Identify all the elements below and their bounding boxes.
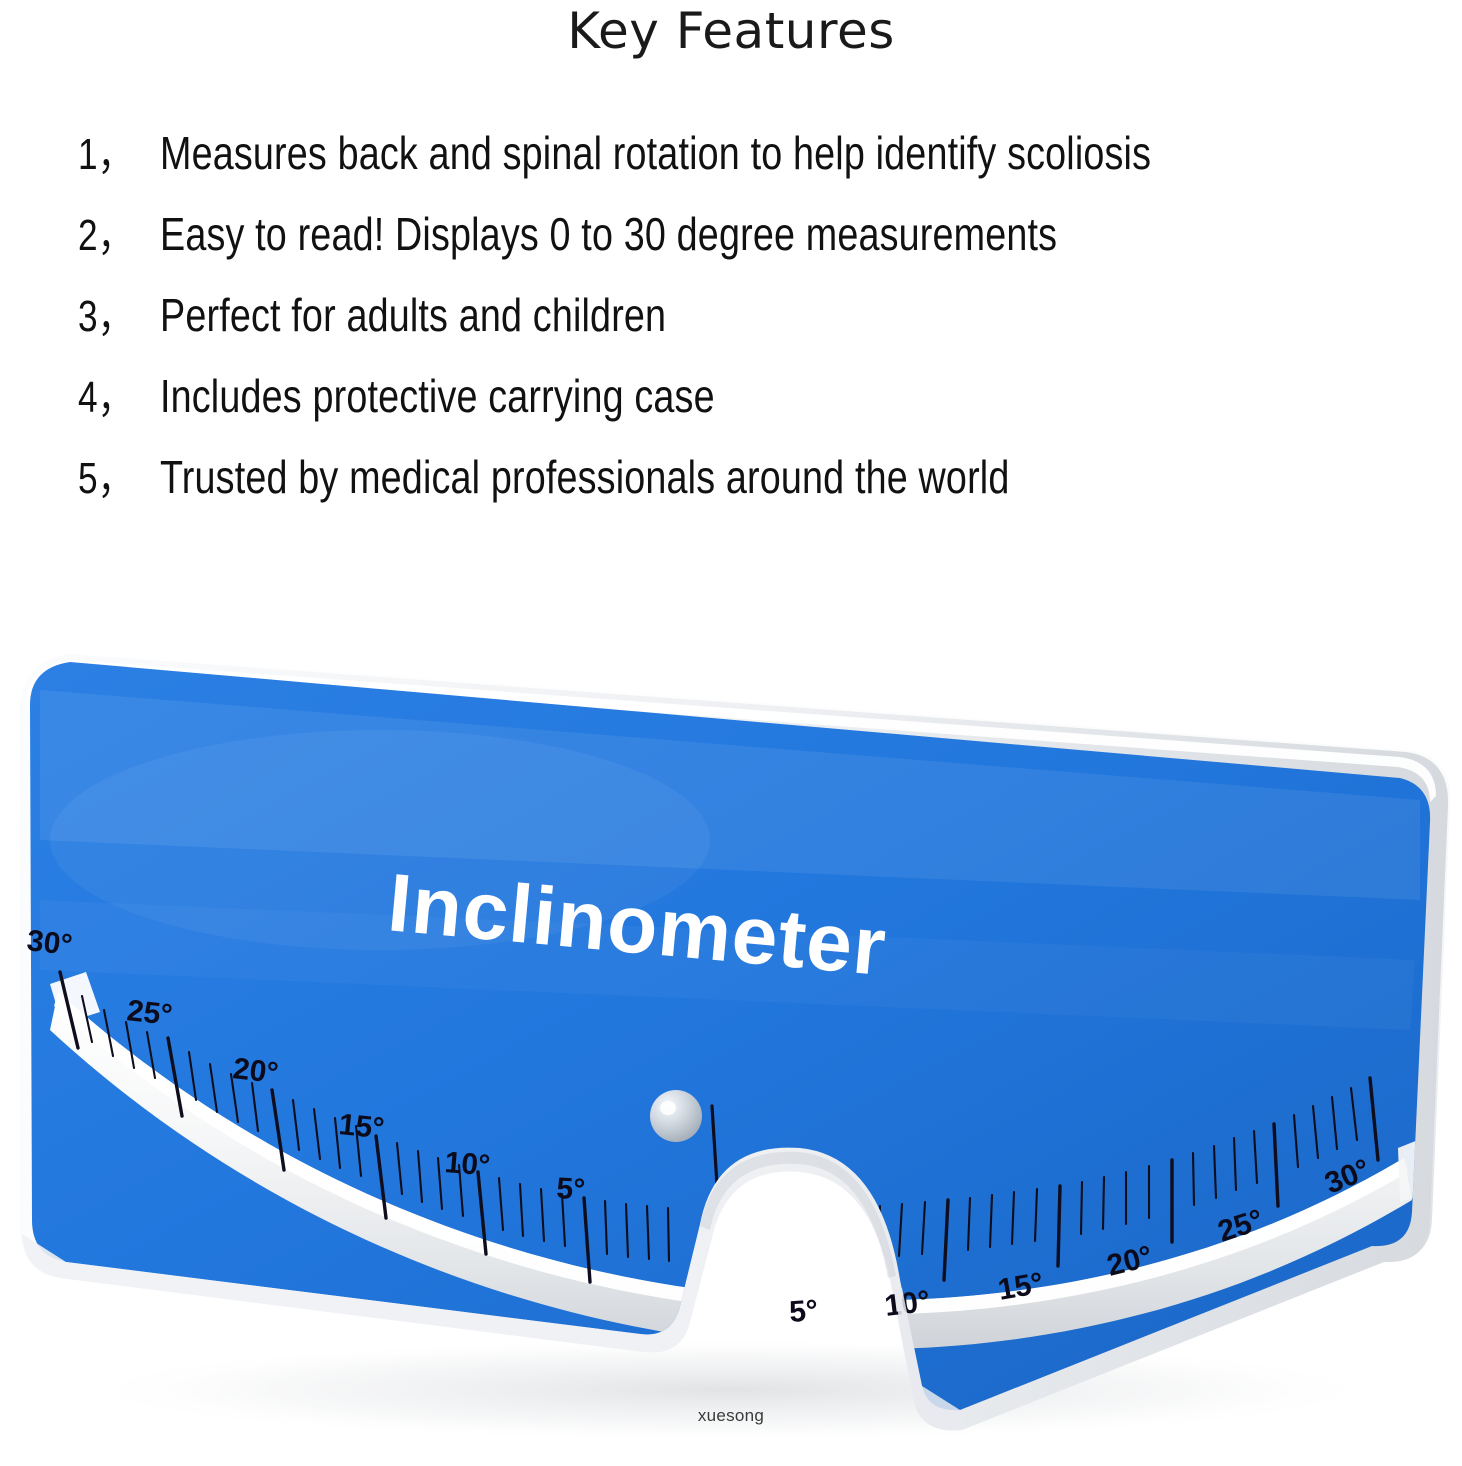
pivot-bubble — [650, 1090, 702, 1142]
scale-label-left-10: 10° — [443, 1146, 491, 1182]
page-title: Key Features — [0, 2, 1462, 60]
product-shadow — [70, 1338, 1390, 1442]
list-item-index: 5， — [78, 442, 144, 506]
scale-label-left-30: 30° — [25, 924, 74, 962]
scale-label-left-15: 15° — [337, 1108, 385, 1145]
list-item-index: 4， — [78, 361, 144, 425]
list-item: 3， Perfect for adults and children — [78, 280, 1418, 361]
scale-label-left-25: 25° — [125, 994, 174, 1032]
scale-label-right-5: 5° — [788, 1294, 819, 1329]
key-features-list: 1， Measures back and spinal rotation to … — [78, 118, 1418, 523]
list-item: 1， Measures back and spinal rotation to … — [78, 118, 1418, 199]
list-item-index: 2， — [78, 199, 144, 263]
scale-label-left-20: 20° — [231, 1052, 280, 1090]
watermark-text: xuesong — [0, 1406, 1462, 1426]
list-item: 5， Trusted by medical professionals arou… — [78, 442, 1418, 523]
list-item-label: Easy to read! Displays 0 to 30 degree me… — [160, 207, 1057, 261]
list-item-index: 1， — [78, 118, 144, 182]
list-item-label: Perfect for adults and children — [160, 288, 666, 342]
list-item-index: 3， — [78, 280, 144, 344]
scale-label-left-5: 5° — [556, 1172, 586, 1206]
list-item-label: Measures back and spinal rotation to hel… — [160, 126, 1151, 180]
list-item-label: Includes protective carrying case — [160, 369, 715, 423]
product-image-inclinometer: 30° 25° 20° 15° 10° 5° — [0, 600, 1462, 1466]
list-item-label: Trusted by medical professionals around … — [160, 450, 1009, 504]
list-item: 4， Includes protective carrying case — [78, 361, 1418, 442]
list-item: 2， Easy to read! Displays 0 to 30 degree… — [78, 199, 1418, 280]
